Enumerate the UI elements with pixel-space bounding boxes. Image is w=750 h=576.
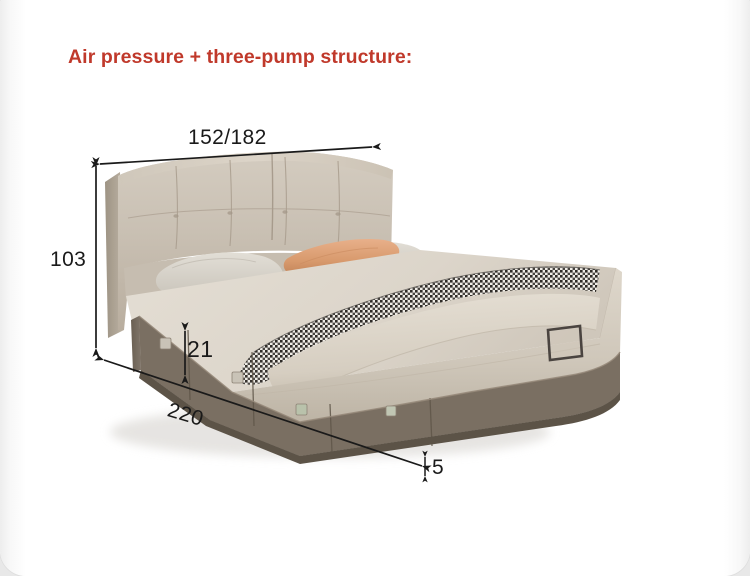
bed-dimension-diagram: 152/182 103 21 220 5 bbox=[0, 0, 750, 576]
drawer-pull-4[interactable] bbox=[386, 406, 396, 416]
base-height-dimension-label: 21 bbox=[187, 336, 213, 363]
product-card: Air pressure + three-pump structure: bbox=[0, 0, 750, 576]
drawer-pull-2[interactable] bbox=[232, 372, 243, 383]
drawer-pull-1[interactable] bbox=[160, 338, 171, 349]
headboard-height-dimension-label: 103 bbox=[50, 248, 86, 272]
bed-width-dimension-label: 152/182 bbox=[188, 126, 267, 150]
bed-illustration bbox=[0, 0, 750, 576]
drawer-pull-3[interactable] bbox=[296, 404, 307, 415]
foot-height-dimension-label: 5 bbox=[432, 456, 444, 480]
